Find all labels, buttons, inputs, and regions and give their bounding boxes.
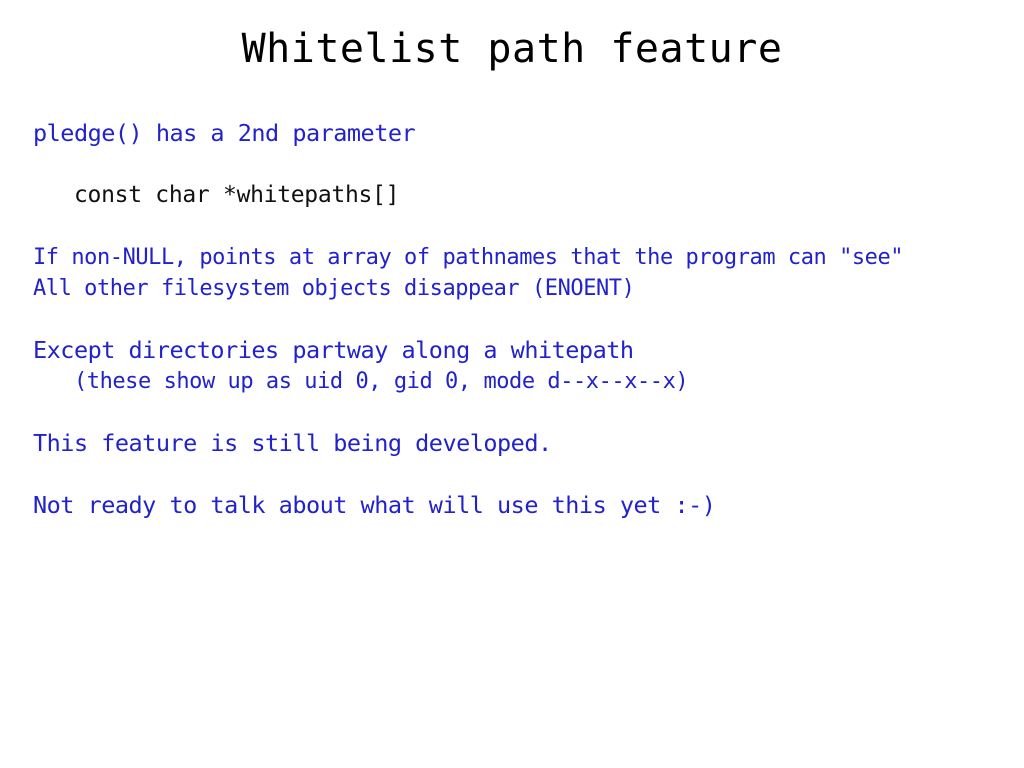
block-spacer (33, 304, 1013, 335)
slide-line: (these show up as uid 0, gid 0, mode d--… (33, 366, 1013, 397)
slide-line: pledge() has a 2nd parameter (33, 118, 1013, 149)
slide-block: Except directories partway along a white… (33, 335, 1013, 397)
slide-block: This feature is still being developed. (33, 428, 1013, 459)
slide-block: pledge() has a 2nd parameter (33, 118, 1013, 149)
slide-line: If non-NULL, points at array of pathname… (33, 242, 1013, 273)
slide-block: Not ready to talk about what will use th… (33, 490, 1013, 521)
block-spacer (33, 149, 1013, 180)
slide-line: All other filesystem objects disappear (… (33, 273, 1013, 304)
slide-line: Except directories partway along a white… (33, 335, 1013, 366)
slide-block: const char *whitepaths[] (33, 180, 1013, 211)
slide-body: pledge() has a 2nd parameter const char … (33, 118, 1013, 521)
presentation-slide: Whitelist path feature pledge() has a 2n… (0, 0, 1024, 768)
slide-block: If non-NULL, points at array of pathname… (33, 242, 1013, 304)
block-spacer (33, 459, 1013, 490)
block-spacer (33, 397, 1013, 428)
slide-line: Not ready to talk about what will use th… (33, 490, 1013, 521)
slide-line-code: const char *whitepaths[] (33, 180, 1013, 211)
block-spacer (33, 211, 1013, 242)
slide-title: Whitelist path feature (0, 26, 1024, 72)
slide-line: This feature is still being developed. (33, 428, 1013, 459)
